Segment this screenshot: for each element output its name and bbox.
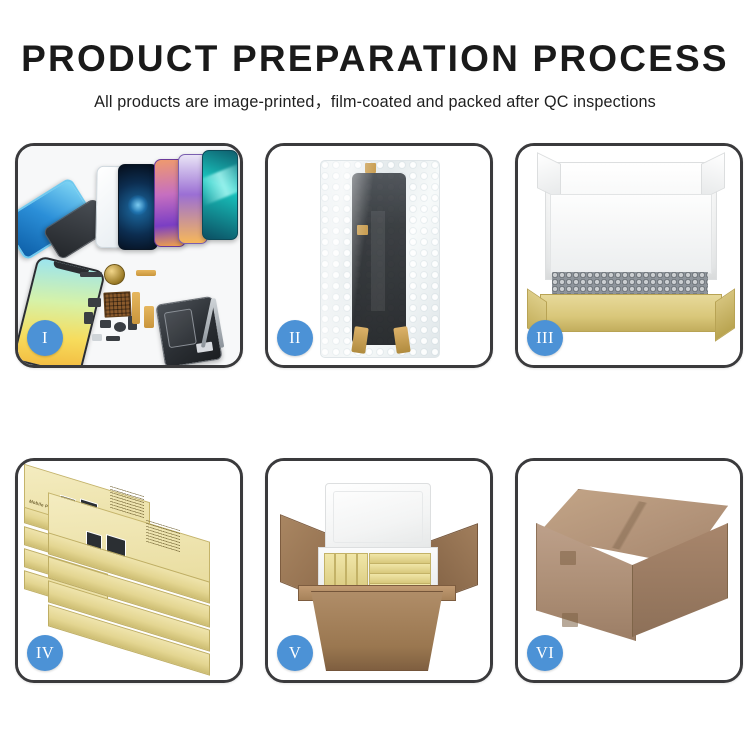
- spare-part-screwplate: [114, 322, 126, 332]
- step-badge-5: V: [277, 635, 313, 671]
- process-step-panel-2: II: [265, 143, 493, 368]
- tweezer-arm-right: [212, 298, 225, 348]
- spare-part-sim-tray: [92, 334, 102, 341]
- phone-screen-teal: [202, 150, 238, 240]
- bubble-wrap-bag: [320, 160, 440, 358]
- vibration-motor-part: [104, 264, 125, 285]
- flex-cable-b: [132, 292, 140, 324]
- process-step-grid: I II III: [15, 143, 743, 678]
- process-step-panel-5: V: [265, 458, 493, 683]
- page-subtitle: All products are image-printed，film-coat…: [0, 79, 750, 112]
- spare-part-bracket-b: [84, 312, 93, 324]
- spare-part-bracket-a: [88, 298, 101, 307]
- bag-seal-tab-top: [365, 163, 376, 173]
- page-title: PRODUCT PREPARATION PROCESS: [0, 0, 750, 79]
- phone-screen-jellyfish: [118, 164, 158, 250]
- tweezers-tool: [196, 296, 236, 360]
- carton-tape-lower: [562, 613, 578, 627]
- step-badge-3: III: [527, 320, 563, 356]
- wrapped-lcd-screen: [352, 173, 406, 345]
- kraft-box-tray: [540, 294, 722, 332]
- step-badge-4: IV: [27, 635, 63, 671]
- ic-chip-grid-part: [103, 291, 131, 317]
- step-badge-6: VI: [527, 635, 563, 671]
- spare-part-bracket-c: [100, 320, 111, 328]
- process-step-panel-3: III: [515, 143, 743, 368]
- foam-sheet-insert: [550, 194, 712, 274]
- process-step-panel-4: Mobile Phone Spare Parts Mobile Phone Sp…: [15, 458, 243, 683]
- flex-cable-a: [136, 270, 156, 276]
- page-header: PRODUCT PREPARATION PROCESS All products…: [0, 0, 750, 112]
- bag-seal-tab-mid: [357, 225, 368, 235]
- carton-tape-upper: [560, 551, 576, 565]
- step-badge-1: I: [27, 320, 63, 356]
- flex-cable-c: [144, 306, 154, 328]
- spare-part-button-flex: [106, 336, 120, 341]
- spare-part-speaker: [80, 272, 102, 277]
- flex-cable-tail-left: [351, 326, 368, 354]
- process-step-panel-1: I: [15, 143, 243, 368]
- styrofoam-lid: [325, 483, 431, 551]
- carton-front-face: [302, 591, 452, 671]
- process-step-panel-6: VI: [515, 458, 743, 683]
- bubble-wrap-layer: [552, 272, 708, 296]
- step-badge-2: II: [277, 320, 313, 356]
- flex-cable-tail-right: [393, 326, 410, 354]
